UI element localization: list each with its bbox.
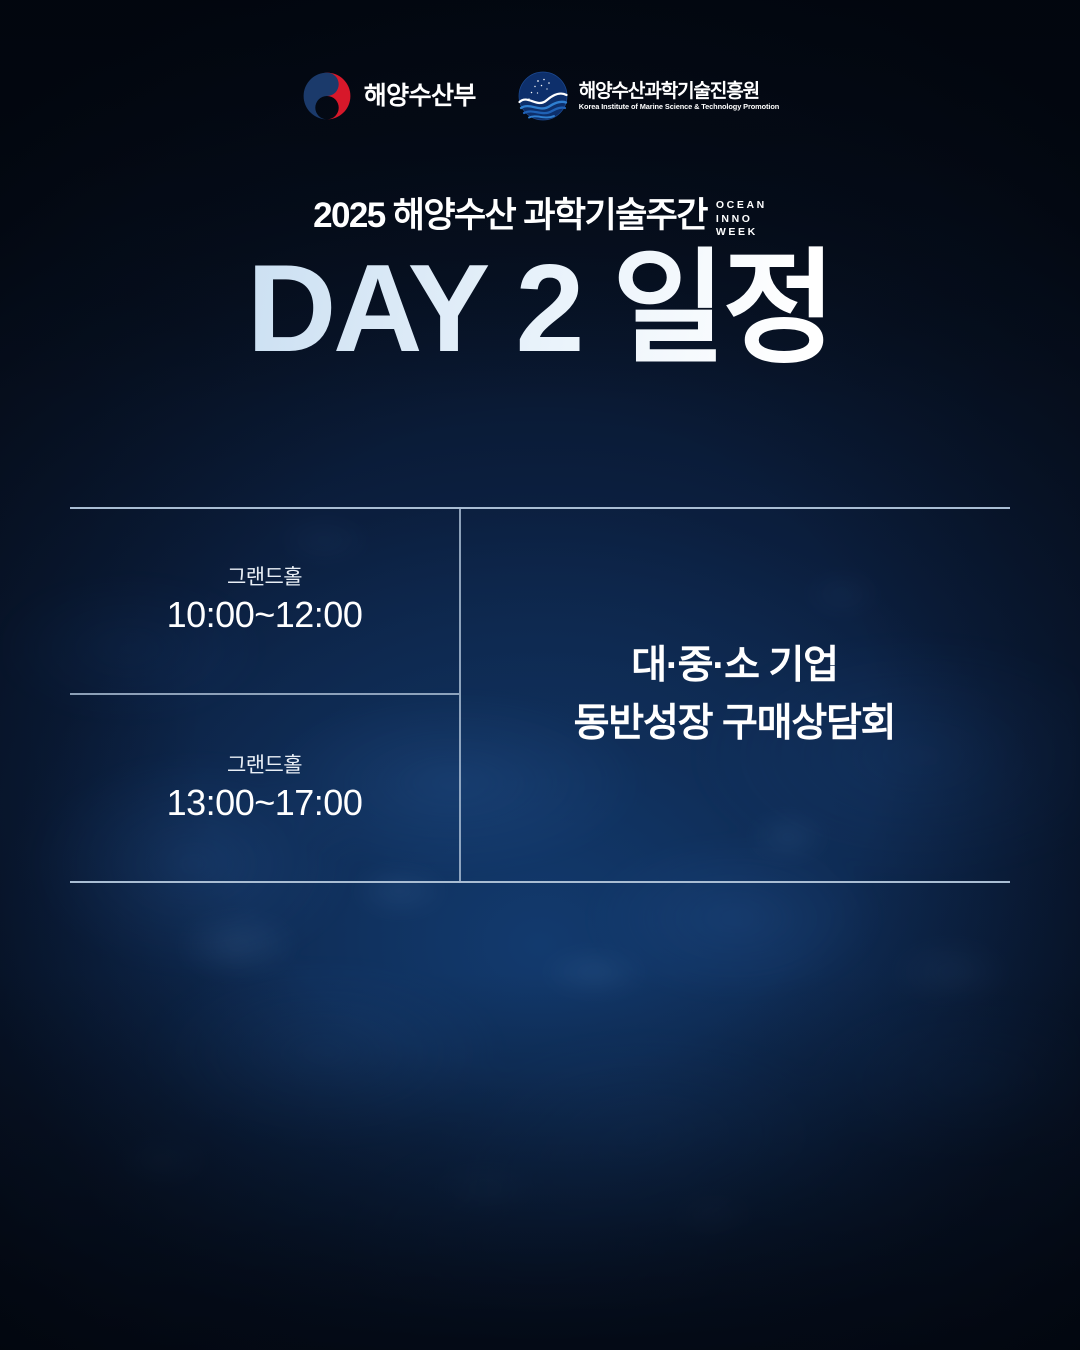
institute-logo-text: 해양수산과학기술진흥원 Korea Institute of Marine Sc… xyxy=(579,82,779,110)
time-range: 13:00~17:00 xyxy=(167,785,363,821)
venue-label: 그랜드홀 xyxy=(227,567,302,588)
government-logo: 해양수산부 xyxy=(301,70,476,122)
taeguk-icon xyxy=(301,70,353,122)
event-eyebrow: 2025 해양수산 과학기술주간 xyxy=(313,196,707,237)
institute-logo: 해양수산과학기술진흥원 Korea Institute of Marine Sc… xyxy=(518,71,779,121)
ocean-inno-week-mark: OCEAN INNO WEEK xyxy=(716,196,767,238)
government-logo-label: 해양수산부 xyxy=(364,84,476,109)
kimst-globe-icon xyxy=(518,71,568,121)
institute-logo-label-en: Korea Institute of Marine Science & Tech… xyxy=(579,103,779,110)
schedule-table: 그랜드홀 10:00~12:00 그랜드홀 13:00~17:00 대·중·소 … xyxy=(70,507,1010,883)
logo-strip: 해양수산부 해양수산과학기술진흥원 Korea I xyxy=(0,70,1080,122)
eyebrow-row: 2025 해양수산 과학기술주간 OCEAN INNO WEEK xyxy=(313,196,767,238)
brand-line-2: INNO xyxy=(716,214,753,225)
table-row: 그랜드홀 13:00~17:00 xyxy=(70,695,459,881)
venue-label: 그랜드홀 xyxy=(227,755,302,776)
time-range: 10:00~12:00 xyxy=(167,597,363,633)
institute-logo-label-kr: 해양수산과학기술진흥원 xyxy=(579,82,779,101)
event-title-cell: 대·중·소 기업 동반성장 구매상담회 xyxy=(459,507,1010,883)
poster-canvas: 해양수산부 해양수산과학기술진흥원 Korea I xyxy=(0,0,1080,1350)
page-title: DAY 2 일정 xyxy=(0,244,1080,374)
event-title-line-2: 동반성장 구매상담회 xyxy=(574,701,896,747)
table-row: 그랜드홀 10:00~12:00 xyxy=(70,507,459,693)
headline-block: 2025 해양수산 과학기술주간 OCEAN INNO WEEK DAY 2 일… xyxy=(0,196,1080,374)
brand-line-3: WEEK xyxy=(716,227,758,238)
event-title-line-1: 대·중·소 기업 xyxy=(631,643,838,689)
brand-line-1: OCEAN xyxy=(716,200,767,211)
